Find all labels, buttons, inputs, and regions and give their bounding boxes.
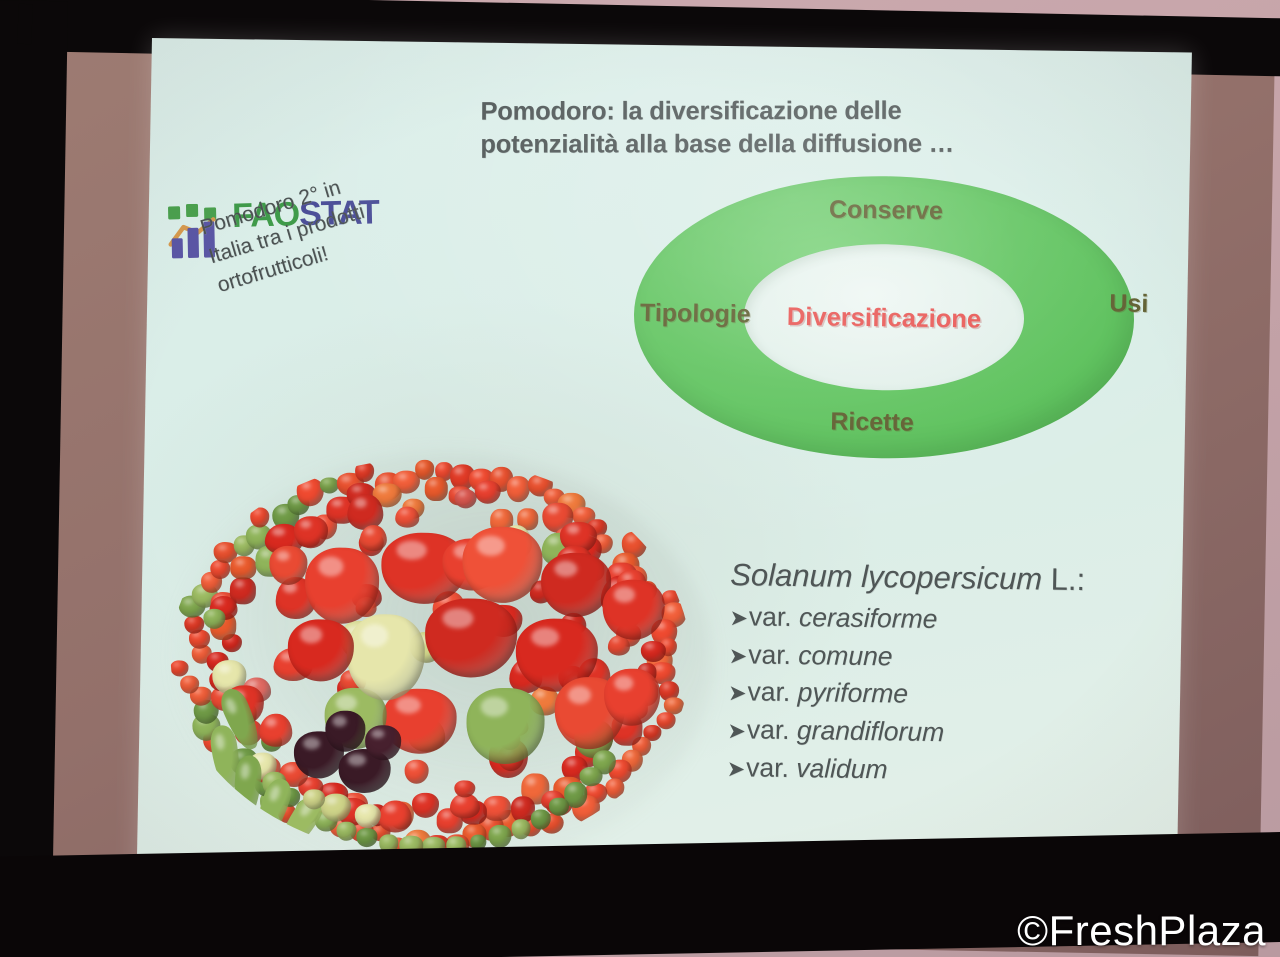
arrow-bullet-icon: ➤ — [729, 605, 748, 630]
donut-label-tipologie: Tipologie — [640, 299, 751, 330]
diversification-donut-diagram: Conserve Tipologie Usi Ricette Diversifi… — [631, 173, 1136, 462]
tomato-fruit — [355, 462, 374, 482]
tomato-fruit — [346, 614, 426, 701]
slide-title: Pomodoro: la diversificazione delle pote… — [480, 95, 1120, 161]
tomato-varieties-photo — [149, 438, 727, 886]
tomato-fruit — [365, 725, 402, 760]
tomato-fruit — [203, 608, 225, 628]
tomato-fruit — [549, 797, 569, 815]
slide-title-line1: Pomodoro: la diversificazione delle — [480, 97, 901, 126]
tomato-fruit — [424, 598, 517, 678]
faostat-caption: Pomodoro 2° in Italia tra i prodotti ort… — [197, 120, 539, 300]
taxonomy-list: ➤var. cerasiforme➤var. comune➤var. pyrif… — [726, 598, 1159, 792]
taxonomy-item: ➤var. grandiflorum — [727, 711, 1158, 755]
taxonomy-item: ➤var. cerasiforme — [729, 598, 1160, 642]
arrow-bullet-icon: ➤ — [728, 680, 747, 705]
tomato-fruit — [320, 477, 339, 494]
screen-frame-bracket — [17, 4, 32, 44]
tomato-fruit — [360, 525, 387, 552]
taxonomy-heading: Solanum lycopersicum L.: — [730, 558, 1161, 598]
taxonomy-item: ➤var. pyriforme — [728, 673, 1159, 717]
tomato-fruit — [506, 476, 530, 502]
taxonomy-item-name: validum — [796, 753, 888, 784]
taxonomy-item-name: grandiflorum — [797, 715, 945, 747]
tomato-fruit — [425, 477, 448, 501]
arrow-bullet-icon: ➤ — [727, 718, 746, 743]
tomato-fruit — [454, 489, 477, 509]
taxonomy-item-prefix: var. — [747, 714, 798, 745]
taxonomy-item: ➤var. comune — [728, 636, 1159, 680]
tomato-fruit — [640, 641, 665, 662]
photograph-scene: Pomodoro: la diversificazione delle pote… — [0, 0, 1280, 957]
slide-title-line2: potenzialità alla base della diffusione … — [480, 127, 1120, 161]
tomato-fruit — [511, 820, 530, 840]
tomato-fruit — [356, 828, 378, 847]
taxonomy-species-name: Solanum lycopersicum — [730, 557, 1042, 596]
taxonomy-item-name: cerasiforme — [799, 602, 938, 634]
donut-label-conserve: Conserve — [829, 195, 943, 226]
taxonomy-item-prefix: var. — [746, 752, 797, 783]
freshplaza-watermark: ©FreshPlaza — [1017, 907, 1266, 955]
tomato-fruit — [412, 793, 439, 818]
donut-label-usi: Usi — [1109, 289, 1148, 319]
taxonomy-heading-suffix: L.: — [1042, 561, 1086, 597]
taxonomy-item-name: comune — [798, 640, 893, 671]
taxonomy-block: Solanum lycopersicum L.: ➤var. cerasifor… — [726, 558, 1160, 792]
tomato-fruit — [488, 825, 512, 848]
tomato-fruit — [170, 661, 189, 677]
tomato-fruit — [540, 552, 611, 617]
taxonomy-item-prefix: var. — [747, 677, 798, 708]
tomato-fruit — [474, 480, 500, 504]
taxonomy-item-prefix: var. — [748, 639, 799, 670]
taxonomy-item-name: pyriforme — [797, 677, 908, 709]
tomato-fruit — [379, 800, 413, 833]
taxonomy-item-prefix: var. — [749, 601, 800, 632]
arrow-bullet-icon: ➤ — [726, 756, 745, 781]
projected-slide: Pomodoro: la diversificazione delle pote… — [137, 38, 1192, 894]
tomato-fruit — [259, 713, 292, 747]
tomato-fruit — [466, 687, 545, 764]
tomato-fruit — [404, 759, 429, 783]
donut-label-ricette: Ricette — [830, 408, 914, 438]
tomato-fruit — [250, 507, 269, 527]
tomato-fruit — [396, 507, 420, 528]
donut-center-label: Diversificazione — [787, 303, 982, 335]
taxonomy-item: ➤var. validum — [726, 749, 1157, 793]
tomato-fruit — [230, 556, 256, 579]
arrow-bullet-icon: ➤ — [729, 643, 748, 668]
tomato-fruit — [603, 668, 660, 726]
